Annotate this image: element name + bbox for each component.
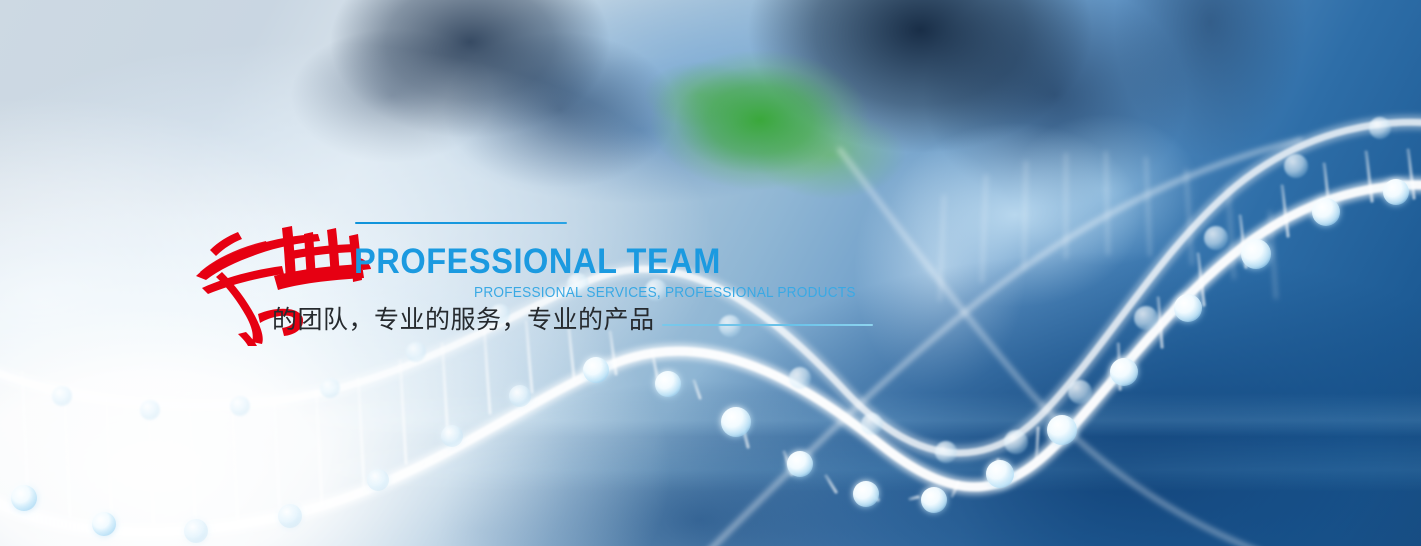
hero-banner: PROFESSIONAL TEAM PROFESSIONAL SERVICES,…: [0, 0, 1421, 546]
banner-headline: PROFESSIONAL TEAM: [354, 244, 721, 279]
decorative-rule-bottom: [662, 324, 873, 326]
banner-subheadline: PROFESSIONAL SERVICES, PROFESSIONAL PROD…: [474, 286, 856, 301]
banner-tagline: 的团队，专业的服务，专业的产品: [272, 306, 655, 336]
decorative-rule-top: [355, 222, 567, 224]
